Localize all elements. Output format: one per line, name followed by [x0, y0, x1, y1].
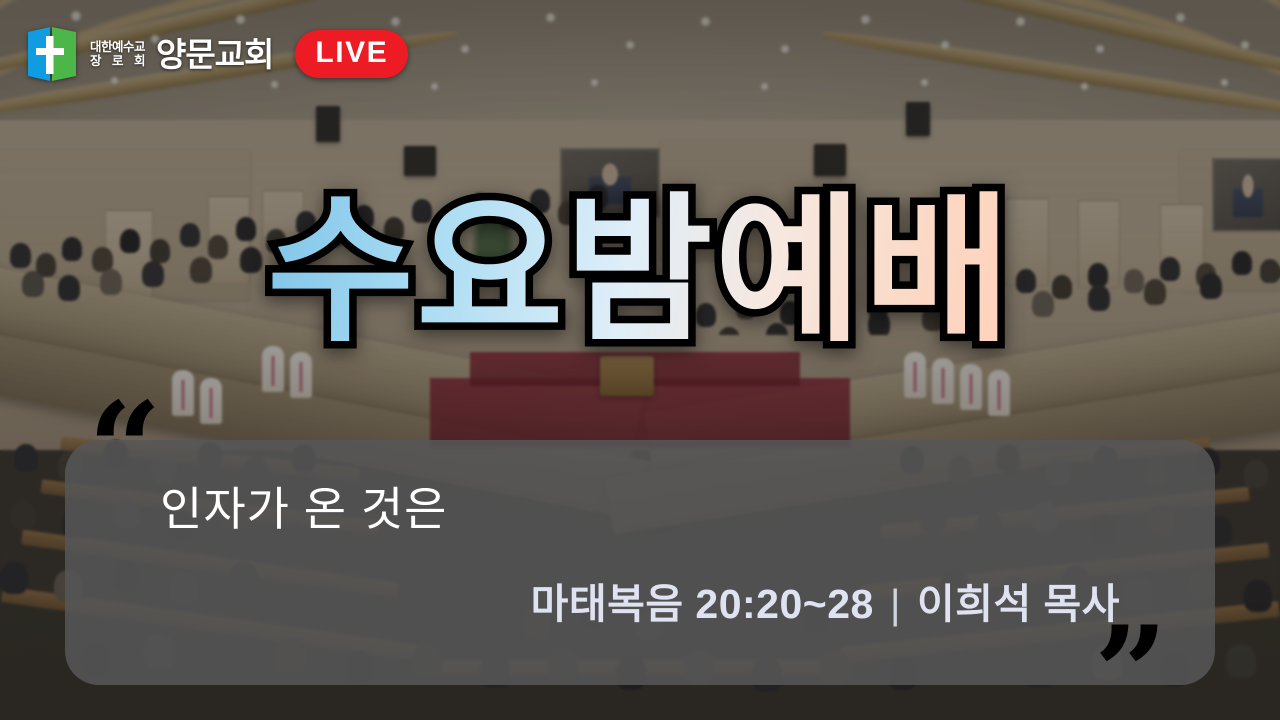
brand-wordmark: 대한예수교 장 로 회 양문교회 — [90, 38, 273, 71]
ceiling-light — [545, 12, 556, 23]
ceiling-speaker — [316, 106, 340, 142]
reference-separator: | — [890, 580, 901, 629]
speaker-name: 이희석 목사 — [917, 580, 1120, 629]
ceiling-light — [860, 14, 871, 25]
choir-member — [904, 352, 926, 398]
ceiling-light — [1080, 82, 1089, 91]
ceiling-light — [1175, 12, 1186, 23]
ceiling-light — [700, 16, 711, 27]
scripture-reference: 마태복음 20:20~28 — [531, 580, 874, 629]
ceiling-light — [460, 44, 470, 54]
denomination-text: 대한예수교 장 로 회 — [90, 41, 149, 71]
stream-title-card: 대한예수교 장 로 회 양문교회 LIVE 수요밤예배 수요밤예배 “ 인자가 … — [0, 0, 1280, 720]
ceiling-speaker — [814, 144, 846, 176]
ceiling-light — [1220, 78, 1229, 87]
ceiling-light — [430, 82, 439, 91]
ceiling-speaker — [906, 102, 930, 136]
choir-member — [290, 352, 312, 398]
ceiling-light — [1095, 44, 1105, 54]
ceiling-light — [940, 40, 950, 50]
church-name: 양문교회 — [156, 38, 273, 71]
denomination-line-1: 대한예수교 — [90, 41, 149, 54]
ceiling-light — [1240, 40, 1250, 50]
ceiling-light — [235, 14, 246, 25]
congregation-balcony-left — [0, 165, 640, 305]
sermon-info-card — [65, 440, 1215, 685]
sermon-title: 인자가 온 것은 — [160, 482, 447, 537]
ceiling-light — [70, 10, 82, 22]
ceiling-light — [1015, 16, 1026, 27]
live-badge: LIVE — [295, 30, 408, 78]
choir-member — [932, 358, 954, 404]
ceiling-light — [780, 44, 790, 54]
ceiling-light — [590, 78, 599, 87]
scripture-and-speaker: 마태복음 20:20~28 | 이희석 목사 — [531, 580, 1120, 629]
church-cross-door-logo-icon — [26, 26, 80, 82]
ceiling-light — [625, 40, 635, 50]
denomination-line-2: 장 로 회 — [90, 55, 149, 68]
choir-member — [262, 346, 284, 392]
brand-bar: 대한예수교 장 로 회 양문교회 LIVE — [26, 26, 408, 82]
ceiling-light — [760, 82, 769, 91]
congregation-balcony-right — [640, 185, 1280, 335]
ceiling-light — [920, 78, 929, 87]
pulpit — [600, 356, 654, 396]
